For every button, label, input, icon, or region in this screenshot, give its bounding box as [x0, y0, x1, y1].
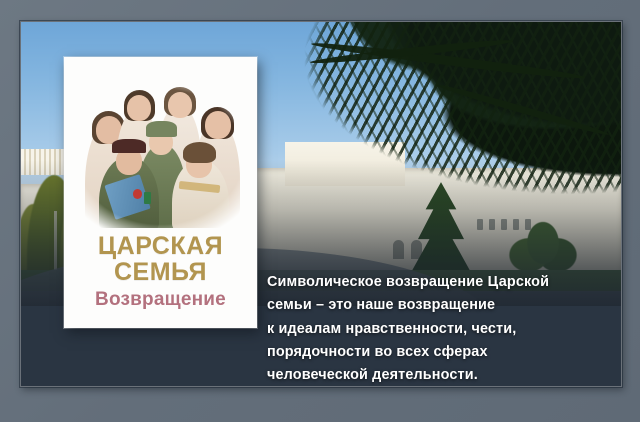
promo-line-4: порядочности во всех сферах	[267, 341, 597, 364]
promo-line-2: семьи – это наше возвращение	[267, 294, 597, 317]
promo-line-3: к идеалам нравственности, чести,	[267, 318, 597, 341]
promo-line-1: Символическое возвращение Царской	[267, 271, 597, 294]
tsarevich-cap	[146, 121, 177, 137]
book-subtitle: Возвращение	[64, 289, 257, 311]
banner-stage: ЦАРСКАЯ СЕМЬЯ Возвращение Символическое …	[0, 0, 640, 422]
tsar-ribbon	[144, 192, 151, 203]
tsarina-hair	[183, 142, 216, 163]
family-group	[68, 66, 253, 228]
book-cover[interactable]: ЦАРСКАЯ СЕМЬЯ Возвращение	[64, 57, 257, 328]
promo-line-5: человеческой деятельности.	[267, 364, 597, 387]
book-title: ЦАРСКАЯ СЕМЬЯ	[64, 233, 257, 285]
tsar-medal	[133, 189, 142, 199]
book-title-line-2: СЕМЬЯ	[114, 258, 207, 286]
promo-paragraph: Символическое возвращение Царской семьи …	[267, 271, 597, 387]
daughter-second-head	[127, 95, 151, 121]
daughter-right-head	[205, 111, 231, 139]
photo-frame: ЦАРСКАЯ СЕМЬЯ Возвращение Символическое …	[20, 21, 622, 387]
daughter-third-head	[168, 92, 192, 118]
book-title-line-1: ЦАРСКАЯ	[98, 232, 223, 260]
promo-text: Символическое возвращение Царской семьи …	[267, 271, 597, 387]
tsar-cap	[112, 139, 145, 154]
romanov-family-portrait	[68, 66, 253, 228]
